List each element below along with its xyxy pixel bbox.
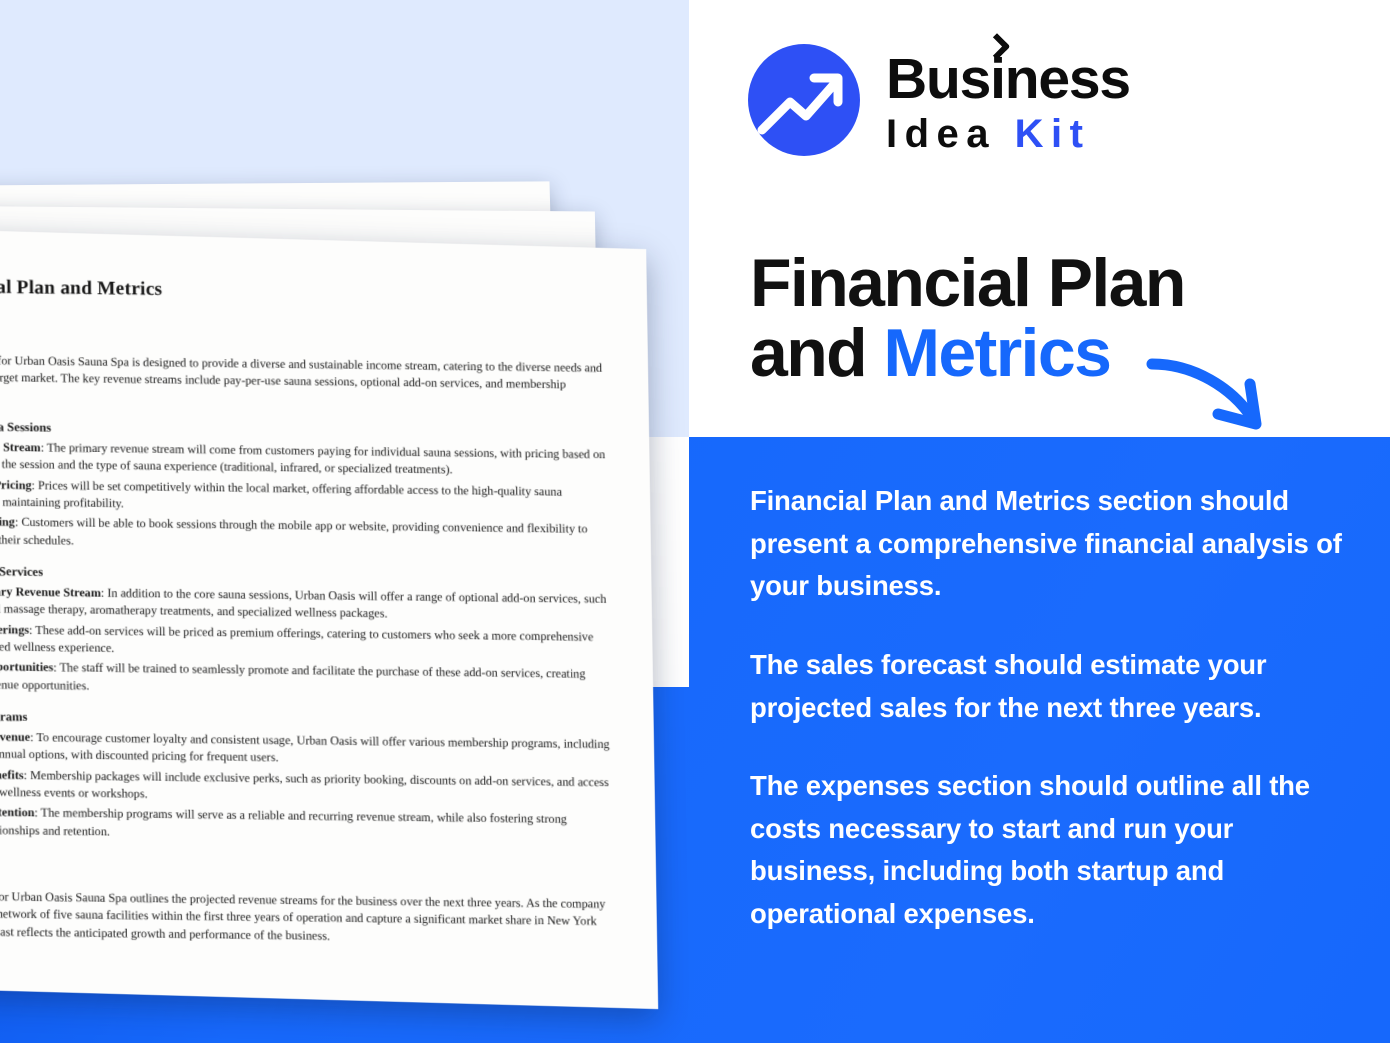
- page-title-line2: and Metrics: [750, 318, 1185, 388]
- page-title: Financial Plan and Metrics: [750, 248, 1185, 388]
- brand-logo: Business Idea Kit: [748, 44, 1130, 156]
- brand-wordmark: Business Idea Kit: [886, 47, 1130, 154]
- description-paragraph-3: The expenses section should outline all …: [750, 765, 1350, 936]
- brand-kit-text: Kit: [1015, 112, 1091, 156]
- description-paragraph-2: The sales forecast should estimate your …: [750, 644, 1350, 729]
- page-title-and: and: [750, 315, 866, 391]
- background-document-area: [0, 437, 689, 687]
- background-light-blue-block: [0, 0, 689, 437]
- page-title-line1: Financial Plan: [750, 248, 1185, 318]
- page-title-accent: Metrics: [883, 315, 1110, 391]
- curved-arrow-down-right-icon: [1146, 352, 1276, 443]
- brand-name-line1: Business: [886, 51, 1130, 108]
- description-paragraph-1: Financial Plan and Metrics section shoul…: [750, 480, 1350, 608]
- brand-name-line2: Idea Kit: [886, 114, 1130, 154]
- brand-idea-text: Idea: [886, 112, 996, 156]
- description-text: Financial Plan and Metrics section shoul…: [750, 480, 1350, 936]
- trending-up-circle-icon: [748, 44, 860, 156]
